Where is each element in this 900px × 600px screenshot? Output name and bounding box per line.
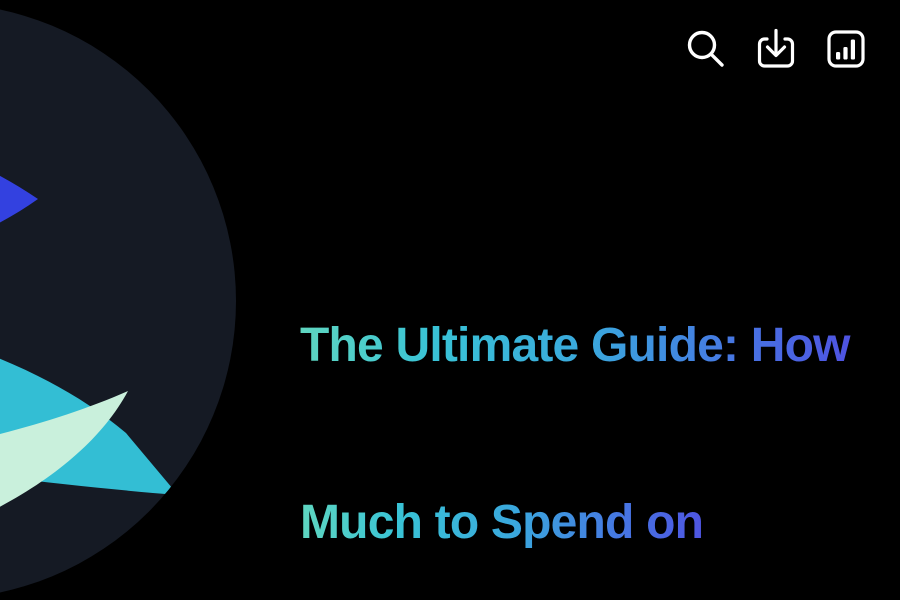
analytics-button[interactable] xyxy=(822,25,870,73)
brand-globe-mark xyxy=(0,3,238,599)
brand-cyan-wing xyxy=(0,300,178,495)
headline-line-1: The Ultimate Guide: How xyxy=(300,316,900,375)
bar-chart-icon xyxy=(823,26,869,72)
brand-blue-wing xyxy=(0,88,38,291)
search-button[interactable] xyxy=(682,25,730,73)
headline-block: The Ultimate Guide: How Much to Spend on… xyxy=(300,198,900,600)
headline-line-2: Much to Spend on xyxy=(300,493,900,552)
article-header-card: The Ultimate Guide: How Much to Spend on… xyxy=(0,0,900,600)
brand-mint-wing xyxy=(0,391,128,587)
toolbar xyxy=(682,25,870,73)
page-title: The Ultimate Guide: How Much to Spend on… xyxy=(300,198,900,600)
download-icon xyxy=(753,26,799,72)
brand-circle-backdrop xyxy=(0,3,236,599)
download-button[interactable] xyxy=(752,25,800,73)
search-icon xyxy=(683,26,729,72)
